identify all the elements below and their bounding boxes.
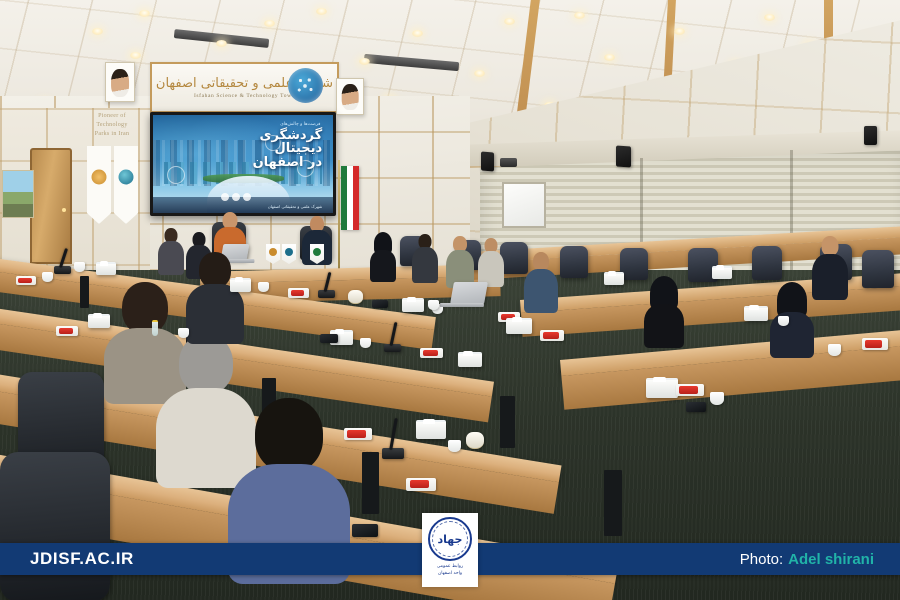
red-sweet-tray (16, 276, 36, 285)
mobile-phone (372, 300, 388, 308)
downlight (216, 40, 227, 47)
conference-hall-scene: شهرک علمی و تحقیقاتی اصفهان Isfahan Scie… (0, 0, 900, 600)
site-url[interactable]: JDISF.AC.IR (30, 549, 134, 569)
tissue-box (402, 298, 424, 312)
tea-cup (448, 440, 461, 452)
table-leg (604, 470, 622, 536)
person-body (524, 269, 558, 313)
tissue-box (744, 306, 768, 321)
table-leg (500, 396, 515, 448)
screen-sponsor-badges (221, 193, 251, 201)
tea-cup (258, 282, 269, 292)
chair (0, 452, 110, 600)
sponsor-badge-icon (221, 193, 229, 201)
teal-emblem-banner (114, 146, 138, 224)
downlight (264, 20, 275, 27)
banner-emblem-icon (119, 170, 134, 185)
photographer-name: Adel shirani (788, 551, 874, 568)
tissue-box (712, 266, 732, 279)
iran-flag (341, 166, 359, 230)
ceiling-projector (500, 158, 517, 167)
attendee (446, 236, 474, 286)
tissue-box (604, 272, 624, 285)
tea-cup (710, 392, 724, 405)
screen-eyebrow-text: فرصت‌ها و چالش‌های (280, 122, 320, 127)
red-sweet-tray (420, 348, 443, 358)
chair (560, 246, 588, 278)
attendee-foreground (186, 252, 244, 340)
water-bottle (152, 320, 158, 336)
tea-cup (178, 328, 189, 338)
banner-emblem-icon (92, 170, 107, 185)
presentation-screen: فرصت‌ها و چالش‌های گردشگری دیجیتال در اص… (150, 112, 336, 216)
framed-landscape-picture (2, 170, 34, 218)
attendee (644, 276, 684, 344)
tea-cup (74, 262, 85, 272)
downlight (504, 18, 515, 25)
person-body (370, 250, 396, 282)
attendee (370, 232, 396, 280)
downlight (139, 10, 150, 17)
organization-logo-card: جهاد روابط عمومی واحد اصفهان (422, 513, 478, 587)
seal-mark-text: جهاد (438, 534, 463, 545)
tea-cup (42, 272, 53, 282)
tissue-box (506, 318, 532, 334)
red-sweet-tray (288, 288, 309, 298)
downlight (92, 28, 103, 35)
pioneer-tagline-line2: Technology (81, 121, 143, 130)
seal-caption-line1: روابط عمومی (437, 564, 463, 571)
chair (752, 246, 782, 280)
gold-emblem-banner (87, 146, 111, 224)
attendee (158, 228, 184, 274)
sponsor-badge-icon (232, 193, 240, 201)
mobile-phone (320, 334, 338, 343)
downlight (764, 14, 775, 21)
person-body (770, 312, 814, 358)
tissue-box (96, 262, 116, 275)
red-sweet-tray (862, 338, 888, 350)
table-leg (80, 276, 89, 308)
photo-frame: شهرک علمی و تحقیقاتی اصفهان Isfahan Scie… (0, 0, 900, 600)
portrait-face (342, 84, 359, 110)
desk-flag-emblem-icon (285, 248, 293, 256)
hall-door[interactable] (30, 148, 72, 264)
screen-footer-text: شهرک علمی و تحقیقاتی اصفهان (268, 204, 323, 209)
mobile-phone (352, 524, 378, 537)
person-body (812, 254, 848, 300)
person-head (199, 252, 231, 288)
person-head (122, 282, 168, 334)
desk-microphone (382, 448, 404, 459)
photo-credit-label: Photo: (740, 551, 783, 568)
tissue-box (230, 278, 251, 292)
desk-microphone (54, 266, 71, 274)
downlight (130, 52, 141, 59)
wall-speaker (481, 151, 494, 171)
attendee (770, 282, 814, 354)
flag-pole (338, 160, 340, 270)
pioneer-tagline-line1: Pioneer of (81, 112, 143, 121)
pioneer-tagline: Pioneer of Technology Parks in Iran (81, 112, 143, 139)
tea-cup (828, 344, 841, 356)
tissue-box (416, 420, 446, 439)
screen-title-line3: در اصفهان (253, 156, 323, 170)
mobile-phone (686, 402, 706, 412)
wall-speaker (616, 145, 631, 167)
screen-title: گردشگری دیجیتال در اصفهان (253, 129, 323, 170)
red-sweet-tray (676, 384, 704, 396)
red-sweet-tray (56, 326, 78, 336)
tea-cup (360, 338, 371, 348)
attendee (478, 238, 504, 286)
attendee (412, 234, 438, 282)
tissue-box (88, 314, 110, 328)
downlight (674, 28, 685, 35)
laptop (450, 282, 488, 304)
sugar-bowl (466, 432, 484, 449)
red-sweet-tray (344, 428, 372, 440)
downlight (359, 58, 370, 65)
tea-cup (778, 316, 789, 326)
table-leg (362, 452, 379, 514)
person-body (186, 284, 244, 344)
person-head (255, 398, 323, 472)
istt-hex-globe-logo (288, 68, 323, 103)
attendee (524, 252, 558, 310)
downlight (604, 54, 615, 61)
sugar-bowl (348, 290, 363, 304)
jahad-daneshgahi-seal-icon: جهاد (428, 517, 472, 561)
tissue-box (458, 352, 482, 367)
seal-caption: روابط عمومی واحد اصفهان (437, 564, 463, 578)
wall-speaker (864, 126, 877, 145)
downlight (574, 12, 585, 19)
sponsor-badge-icon (243, 193, 251, 201)
desk-flag-emblem-icon (313, 248, 321, 256)
chair (862, 250, 894, 288)
portrait-face (111, 69, 129, 97)
tea-cup (428, 300, 439, 310)
person-body (644, 304, 684, 348)
red-sweet-tray (406, 478, 436, 491)
wall-sign-title-en: Isfahan Science & Technology Town (194, 93, 295, 99)
portrait-left (105, 62, 135, 102)
person-body (412, 247, 438, 283)
photo-credit: Photo:Adel shirani (740, 551, 874, 568)
whiteboard (502, 182, 546, 228)
seal-caption-line2: واحد اصفهان (437, 571, 463, 578)
tissue-box (646, 378, 678, 398)
pioneer-tagline-line3: Parks in Iran (81, 130, 143, 139)
person-body (158, 241, 184, 275)
red-sweet-tray (540, 330, 564, 341)
attendee (812, 236, 848, 298)
downlight (474, 70, 485, 77)
portrait-right (336, 78, 364, 115)
person-head (822, 236, 839, 256)
downlight (316, 8, 327, 15)
downlight (412, 30, 423, 37)
screen-title-line2: دیجیتال (253, 142, 323, 156)
desk-flag-emblem-icon (269, 248, 277, 256)
